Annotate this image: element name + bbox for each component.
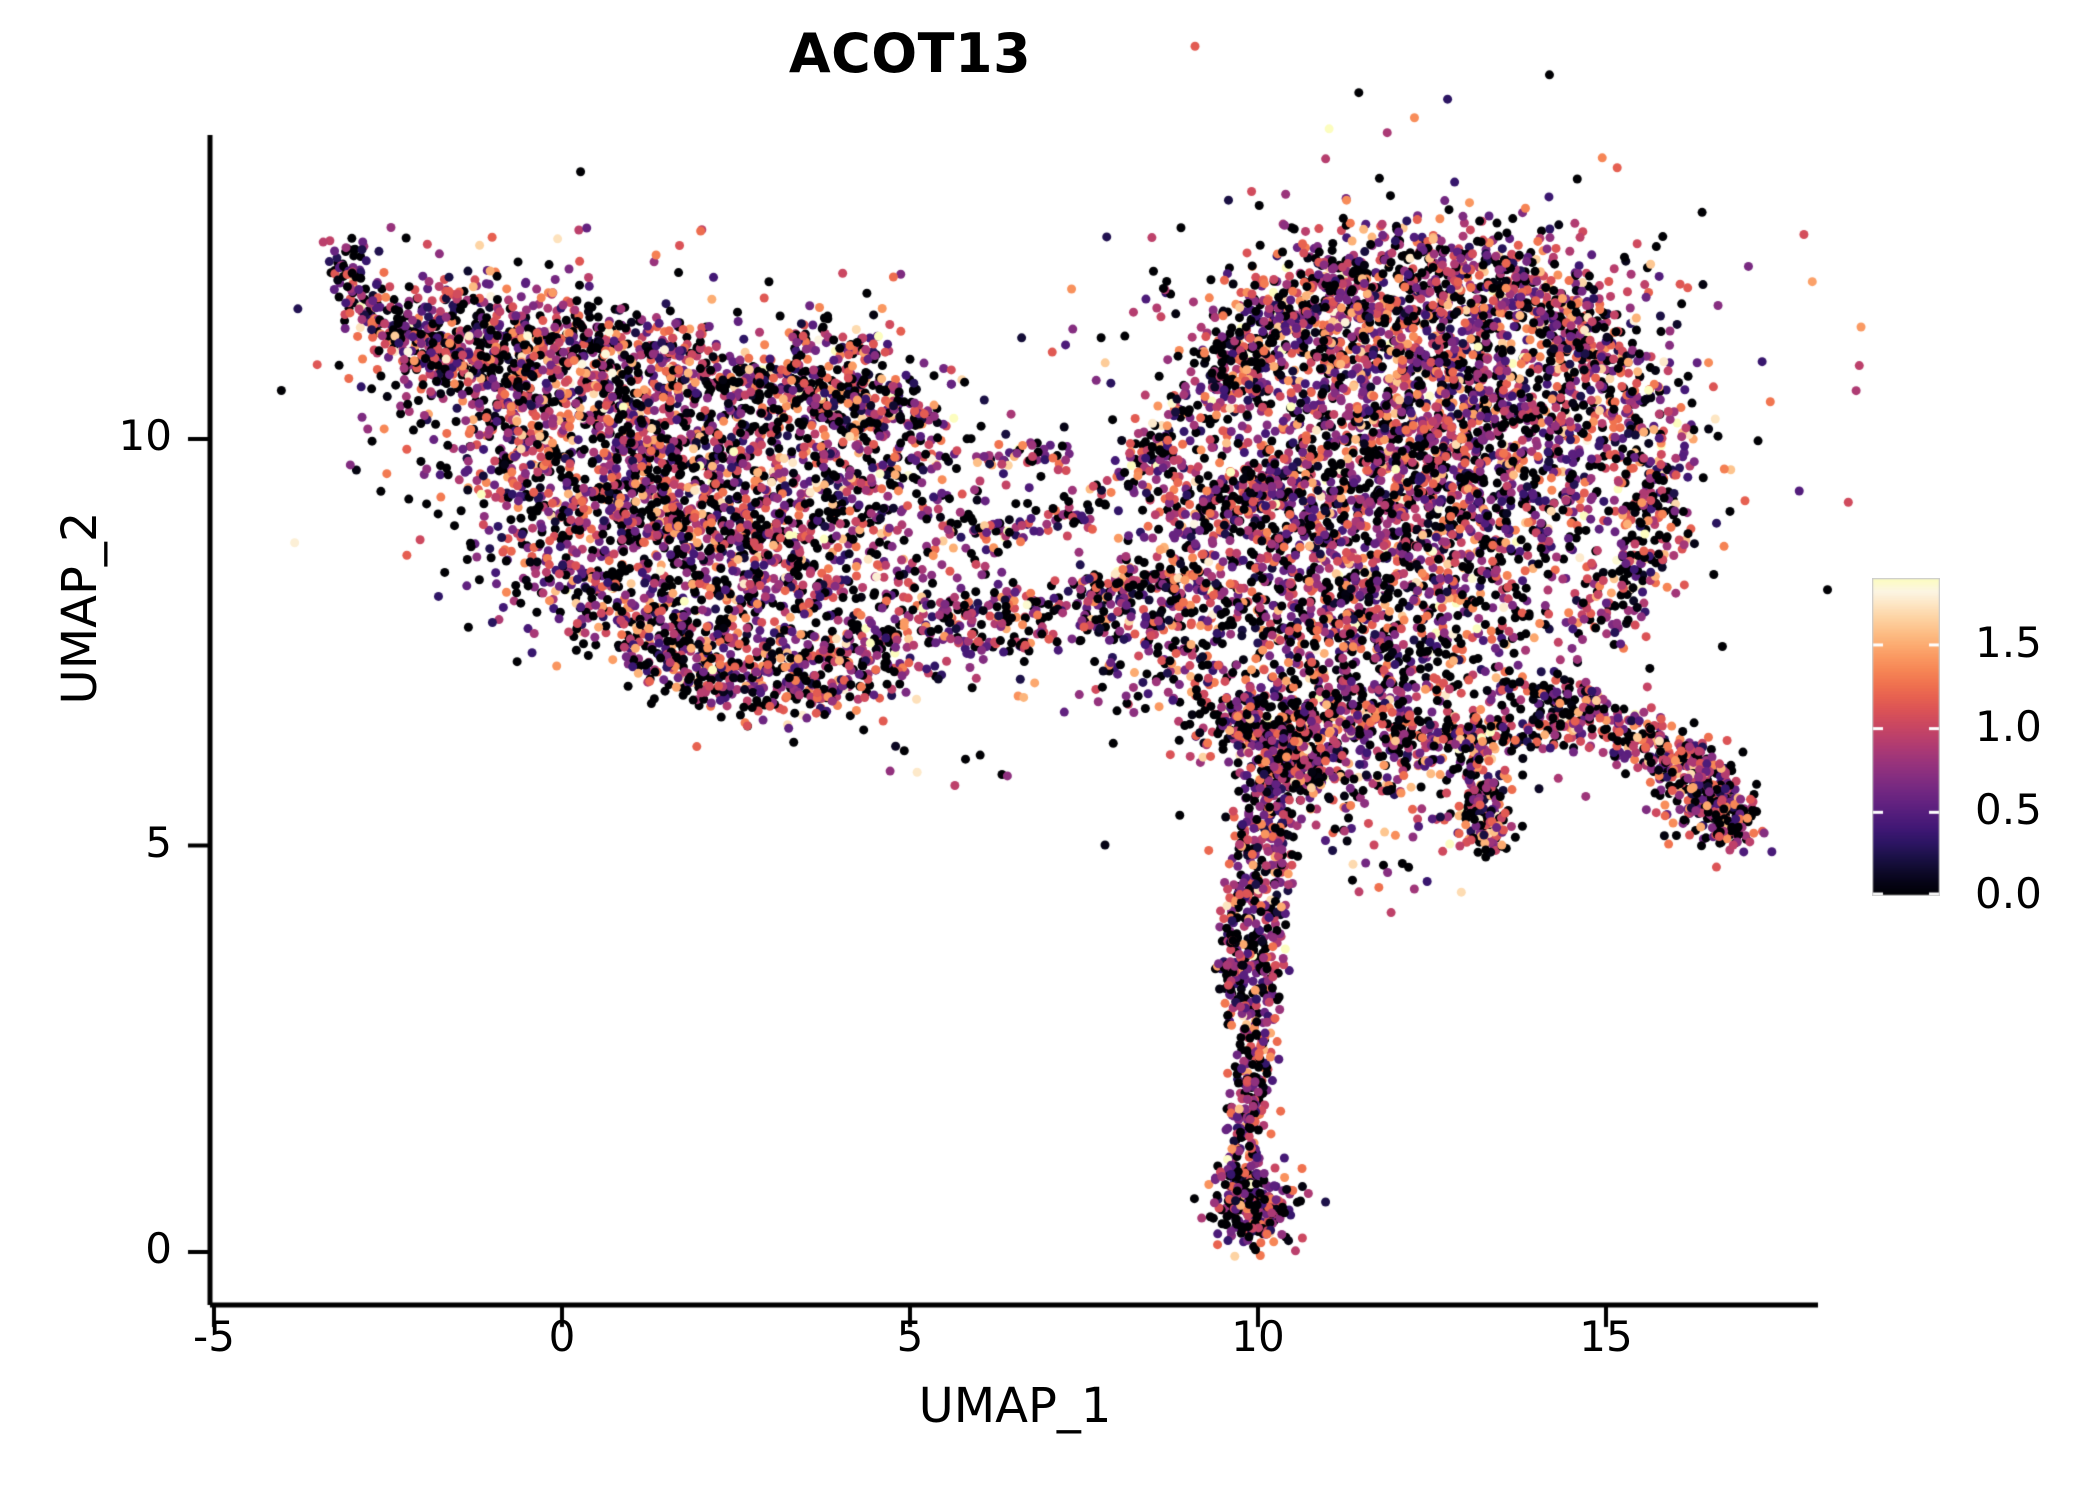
y-tick-label-1: 5	[42, 818, 172, 867]
x-axis-label: UMAP_1	[210, 1378, 1820, 1434]
colorbar-gradient	[1872, 578, 1940, 896]
y-axis-label: UMAP_2	[52, 408, 108, 808]
page-title: ACOT13	[0, 22, 1820, 85]
figure-canvas-root: ACOT13 UMAP_1 UMAP_2 -5 0 5 10 15 0 5 10…	[0, 0, 2100, 1500]
x-tick-label-1: 0	[502, 1312, 622, 1361]
y-tick-label-2: 10	[42, 411, 172, 460]
x-tick-label-2: 5	[850, 1312, 970, 1361]
colorbar-tick-label-3: 0.0	[1975, 869, 2100, 918]
colorbar-tick-label-2: 0.5	[1975, 785, 2100, 834]
umap-scatter-canvas	[0, 0, 2100, 1500]
y-tick-label-0: 0	[42, 1224, 172, 1273]
x-tick-label-4: 15	[1546, 1312, 1666, 1361]
colorbar-tick-label-0: 1.5	[1975, 618, 2100, 667]
x-tick-label-3: 10	[1198, 1312, 1318, 1361]
x-tick-label-0: -5	[154, 1312, 274, 1361]
colorbar-tick-label-1: 1.0	[1975, 702, 2100, 751]
